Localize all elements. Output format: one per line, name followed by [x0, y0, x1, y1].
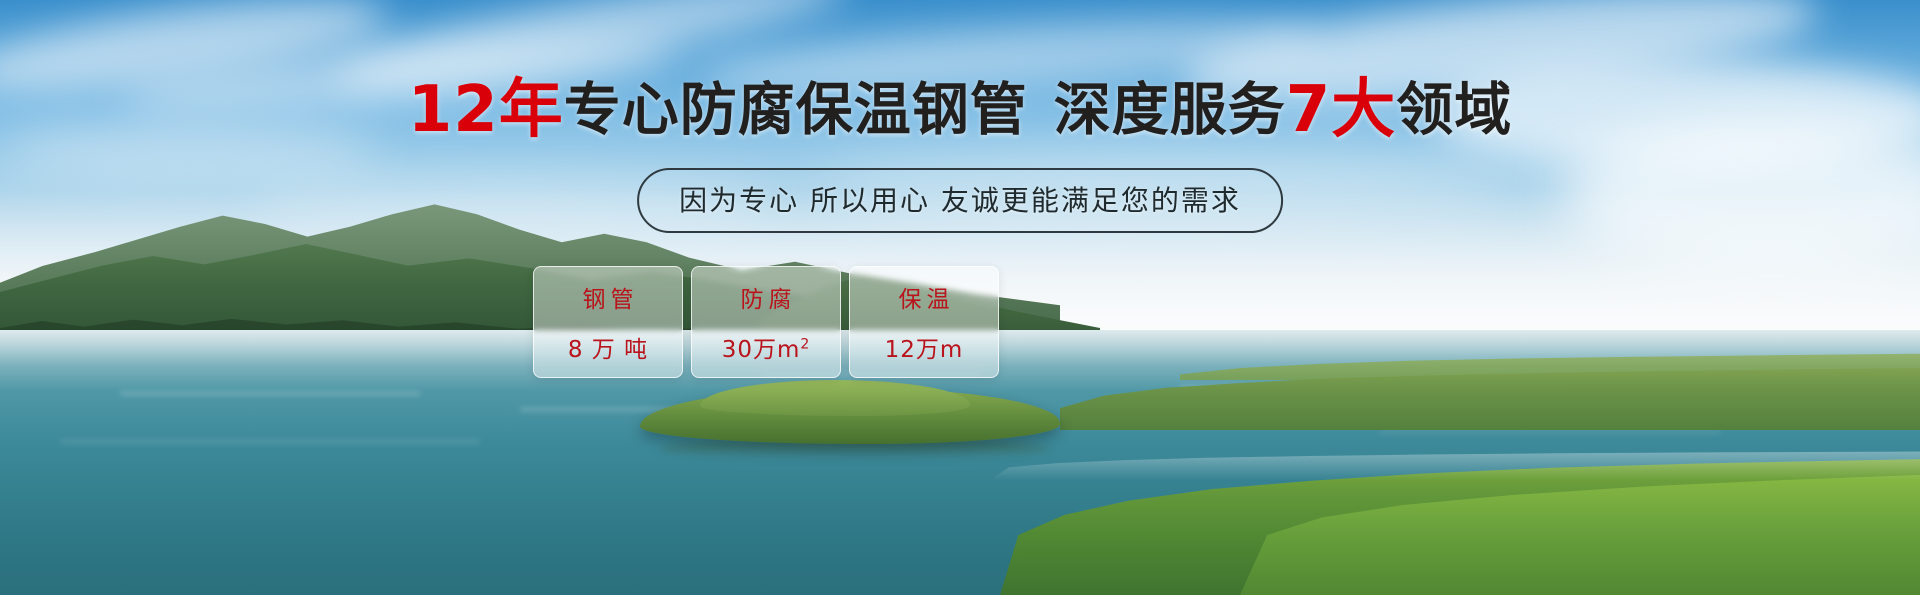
hero-banner: 12年专心防腐保温钢管深度服务7大领域 因为专心 所以用心 友诚更能满足您的需求… [0, 0, 1920, 595]
subtitle-text: 因为专心 所以用心 友诚更能满足您的需求 [679, 184, 1241, 217]
subtitle-pill: 因为专心 所以用心 友诚更能满足您的需求 [637, 168, 1283, 233]
stat-value: 12万m [885, 330, 964, 364]
stat-card-steel-pipe: 钢管 8 万 吨 [533, 266, 683, 378]
headline-fields: 领域 [1396, 77, 1512, 143]
stat-title: 防腐 [736, 280, 797, 314]
stat-value: 30万m2 [722, 330, 811, 364]
stat-value-text: 8 万 吨 [568, 337, 648, 363]
stat-value-sup: 2 [800, 336, 810, 352]
stat-title: 钢管 [578, 280, 639, 314]
stat-card-insulation: 保温 12万m [849, 266, 999, 378]
stat-value-text: 12万m [885, 337, 964, 363]
stat-title: 保温 [894, 280, 955, 314]
headline-years: 12年 [408, 73, 564, 147]
stats-row: 钢管 8 万 吨 防腐 30万m2 保温 12万m [533, 266, 999, 378]
stat-card-anticorrosion: 防腐 30万m2 [691, 266, 841, 378]
headline-main: 专心防腐保温钢管 [564, 77, 1028, 143]
banner-content: 12年专心防腐保温钢管深度服务7大领域 因为专心 所以用心 友诚更能满足您的需求… [0, 0, 1920, 595]
stat-value-text: 30万m [722, 337, 801, 363]
headline: 12年专心防腐保温钢管深度服务7大领域 [0, 78, 1920, 142]
stat-value: 8 万 吨 [568, 330, 648, 364]
headline-fields-count: 7大 [1286, 73, 1397, 147]
headline-service: 深度服务 [1054, 77, 1286, 143]
